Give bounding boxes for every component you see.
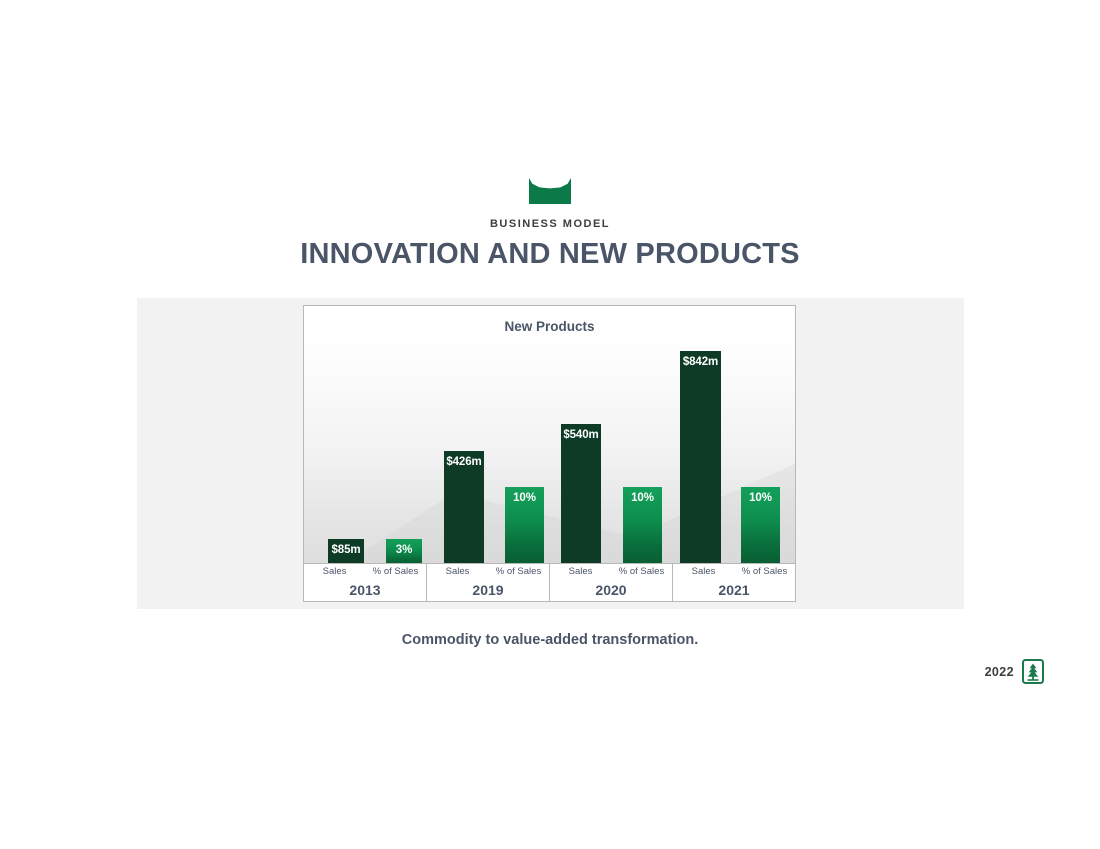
axis-year-label: 2020 [550, 580, 672, 600]
axis-year-label: 2013 [304, 580, 426, 600]
slide-caption: Commodity to value-added transformation. [0, 632, 1100, 648]
axis-subcategory-sales: Sales [673, 564, 734, 580]
axis-group-2019: Sales % of Sales 2019 [427, 563, 550, 601]
bar-label: $85m [331, 544, 360, 565]
slide-header: BUSINESS MODEL INNOVATION AND NEW PRODUC… [0, 178, 1100, 271]
footer-year-label: 2022 [985, 665, 1014, 679]
bar-pct-2021: 10% [741, 487, 780, 565]
brand-mark-icon [529, 178, 571, 204]
bar-pct-2020: 10% [623, 487, 662, 565]
bar-sales-2021: $842m [680, 351, 721, 565]
axis-subcategory-sales: Sales [304, 564, 365, 580]
bar-label: 3% [396, 544, 412, 565]
axis-group-2021: Sales % of Sales 2021 [673, 563, 795, 601]
bar-label: $426m [446, 456, 481, 565]
bar-sales-2020: $540m [561, 424, 601, 565]
axis-year-label: 2021 [673, 580, 795, 600]
axis-subcategories: Sales % of Sales [550, 564, 672, 580]
axis-subcategory-pct: % of Sales [488, 564, 549, 580]
chart-title: New Products [304, 319, 795, 334]
chart-card: New Products $85m 3% $426m 10% [303, 305, 796, 602]
bar-label: $842m [683, 356, 718, 565]
axis-subcategory-pct: % of Sales [365, 564, 426, 580]
eyebrow-label: BUSINESS MODEL [0, 218, 1100, 230]
bar-label: 10% [749, 492, 772, 565]
axis-group-2020: Sales % of Sales 2020 [550, 563, 673, 601]
axis-year-label: 2019 [427, 580, 549, 600]
axis-subcategory-sales: Sales [427, 564, 488, 580]
axis-subcategory-pct: % of Sales [611, 564, 672, 580]
axis-subcategories: Sales % of Sales [304, 564, 426, 580]
page-title: INNOVATION AND NEW PRODUCTS [0, 238, 1100, 271]
chart-panel: New Products $85m 3% $426m 10% [137, 298, 964, 609]
bar-label: 10% [513, 492, 536, 565]
axis-subcategory-pct: % of Sales [734, 564, 795, 580]
axis-subcategories: Sales % of Sales [427, 564, 549, 580]
tree-logo-icon [1022, 659, 1044, 684]
bar-label: $540m [563, 429, 598, 565]
slide-footer: 2022 [985, 659, 1044, 684]
axis-group-2013: Sales % of Sales 2013 [304, 563, 427, 601]
axis-subcategory-sales: Sales [550, 564, 611, 580]
slide: BUSINESS MODEL INNOVATION AND NEW PRODUC… [0, 0, 1100, 849]
bar-sales-2013: $85m [328, 539, 364, 565]
axis-subcategories: Sales % of Sales [673, 564, 795, 580]
bar-pct-2019: 10% [505, 487, 544, 565]
axis-label-band: Sales % of Sales 2013 Sales % of Sales 2… [304, 563, 795, 601]
bar-label: 10% [631, 492, 654, 565]
bar-pct-2013: 3% [386, 539, 422, 565]
plot-area: $85m 3% $426m 10% $540m 10% [304, 306, 795, 565]
bar-sales-2019: $426m [444, 451, 484, 565]
